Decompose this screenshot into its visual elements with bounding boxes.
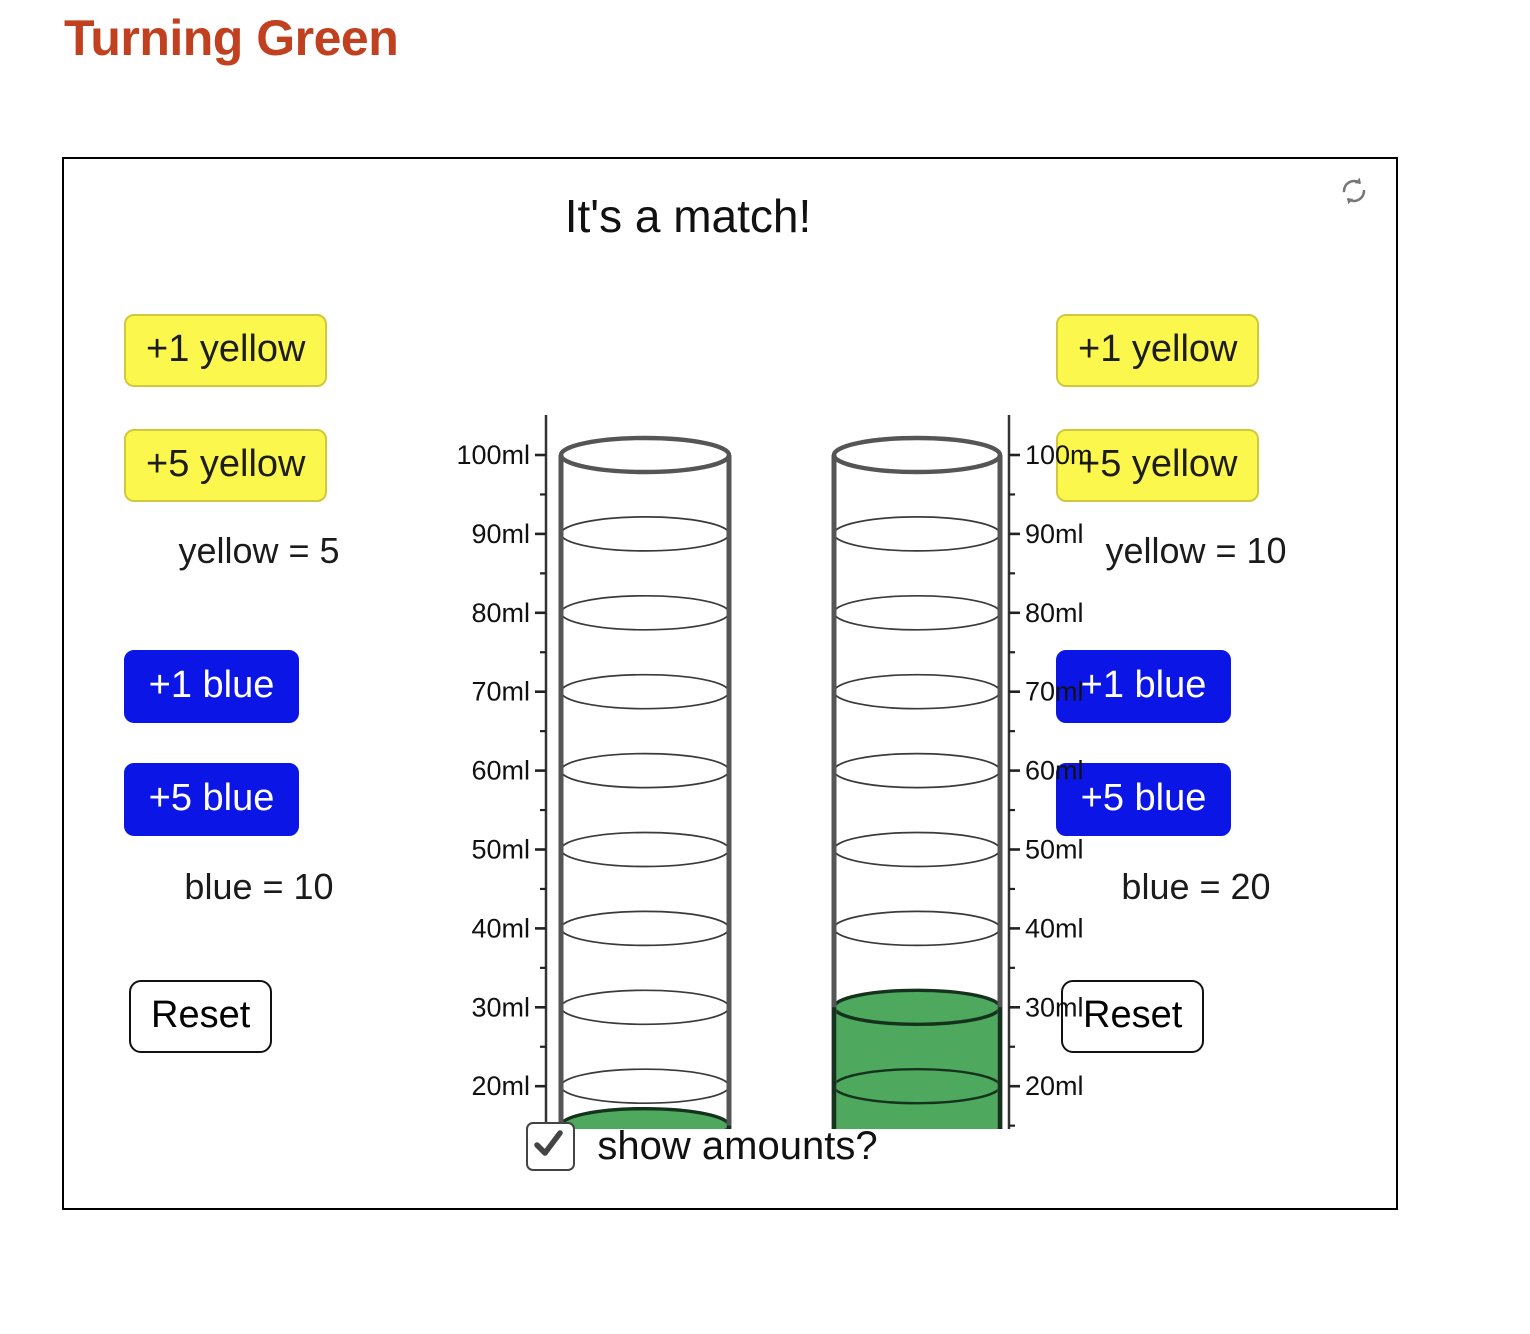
axis-tick-label: 90ml — [1025, 519, 1084, 549]
axis-tick-label: 70ml — [1025, 677, 1084, 707]
left-add-5-yellow-button[interactable]: +5 yellow — [124, 429, 327, 502]
check-icon — [532, 1128, 565, 1161]
axis-tick-label: 30ml — [471, 992, 530, 1022]
graduation-ellipse — [561, 596, 729, 630]
graduation-ellipse — [834, 754, 1000, 788]
axis-tick-label: 20ml — [471, 1071, 530, 1101]
left-yellow-amount-label: yellow = 5 — [114, 530, 404, 572]
simulation-panel: It's a match! +1 yellow +5 yellow yellow… — [62, 157, 1398, 1210]
axis-tick-label: 60ml — [1025, 756, 1084, 786]
graduation-ellipse — [561, 675, 729, 709]
left-add-5-blue-button[interactable]: +5 blue — [124, 763, 299, 836]
axis-tick-label: 60ml — [471, 756, 530, 786]
axis-tick-label: 40ml — [1025, 913, 1084, 943]
left-add-1-blue-button[interactable]: +1 blue — [124, 650, 299, 723]
graduation-ellipse — [561, 1069, 729, 1103]
axis-tick-label: 100ml — [456, 440, 530, 470]
axis-tick-label: 50ml — [471, 835, 530, 865]
axis-tick-label: 100ml — [1025, 440, 1094, 470]
cylinder-chart: 0ml10ml20ml30ml40ml50ml60ml70ml80ml90ml1… — [394, 249, 1094, 1129]
cylinder-right: 0ml10ml20ml30ml40ml50ml60ml70ml80ml90ml1… — [834, 415, 1094, 1129]
cylinder-left: 0ml10ml20ml30ml40ml50ml60ml70ml80ml90ml1… — [456, 415, 729, 1129]
left-add-1-yellow-button[interactable]: +1 yellow — [124, 314, 327, 387]
axis-tick-label: 30ml — [1025, 992, 1084, 1022]
graduation-ellipse — [834, 911, 1000, 945]
axis-tick-label: 90ml — [471, 519, 530, 549]
left-reset-button[interactable]: Reset — [129, 980, 272, 1053]
cylinder-rim — [561, 438, 729, 472]
page-title: Turning Green — [64, 8, 398, 68]
left-controls: +1 yellow +5 yellow yellow = 5 +1 blue +… — [114, 314, 434, 1053]
axis-tick-label: 80ml — [1025, 598, 1084, 628]
axis-tick-label: 50ml — [1025, 835, 1084, 865]
axis-tick-label: 70ml — [471, 677, 530, 707]
status-heading-text: It's a match! — [565, 189, 812, 243]
axis-tick-label: 40ml — [471, 913, 530, 943]
show-amounts-checkbox[interactable] — [526, 1122, 575, 1171]
graduation-ellipse — [561, 517, 729, 551]
status-heading: It's a match! — [64, 189, 1396, 243]
graduation-ellipse — [834, 517, 1000, 551]
graduation-ellipse — [834, 833, 1000, 867]
graduation-ellipse — [561, 833, 729, 867]
cylinder-rim — [834, 438, 1000, 472]
graduation-ellipse — [834, 596, 1000, 630]
show-amounts-row: show amounts? — [64, 1122, 1396, 1171]
axis-tick-label: 20ml — [1025, 1071, 1084, 1101]
graduation-ellipse — [561, 754, 729, 788]
show-amounts-label[interactable]: show amounts? — [597, 1124, 877, 1169]
right-controls: +1 yellow +5 yellow yellow = 10 +1 blue … — [1046, 314, 1366, 1053]
graduation-ellipse — [561, 990, 729, 1024]
graduation-ellipse — [834, 675, 1000, 709]
left-blue-amount-label: blue = 10 — [114, 866, 404, 908]
liquid-surface — [834, 990, 1000, 1024]
axis-tick-label: 80ml — [471, 598, 530, 628]
graduation-ellipse — [561, 911, 729, 945]
